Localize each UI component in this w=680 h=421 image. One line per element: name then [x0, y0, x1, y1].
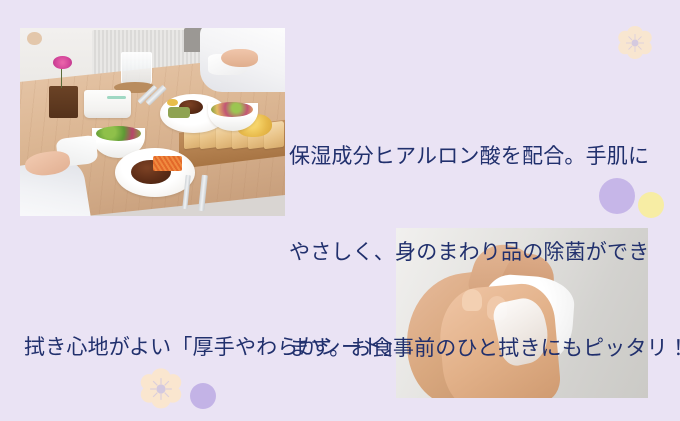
wet-wipe-box	[84, 90, 132, 118]
feature-banner: 保湿成分ヒアルロン酸を配合。手肌に やさしく、身のまわり品の除菌ができ ます。お…	[0, 0, 680, 421]
wooden-vase	[49, 86, 78, 118]
moisturizing-description-line-2: やさしく、身のまわり品の除菌ができ	[289, 237, 680, 269]
salad-left	[96, 126, 141, 141]
dining-table-photo	[20, 28, 285, 216]
thick-soft-sheet-description-line-1: 拭き心地がよい「厚手やわらかシート」	[24, 332, 405, 364]
person-top-right-hand	[221, 49, 258, 68]
dining-table-photo-content	[20, 28, 285, 216]
side-vegetable	[168, 107, 189, 118]
pink-flower	[53, 56, 72, 69]
side-carrot	[153, 156, 182, 171]
moisturizing-description-line-1: 保湿成分ヒアルロン酸を配合。手肌に	[289, 141, 680, 173]
thick-soft-sheet-description: 拭き心地がよい「厚手やわらかシート」 いつでもどこでも手指の汚れの拭き取り や、…	[24, 268, 405, 421]
side-corn	[167, 99, 178, 107]
wet-wipe-box-lid	[107, 96, 126, 100]
flower-top-right-icon	[616, 24, 654, 62]
